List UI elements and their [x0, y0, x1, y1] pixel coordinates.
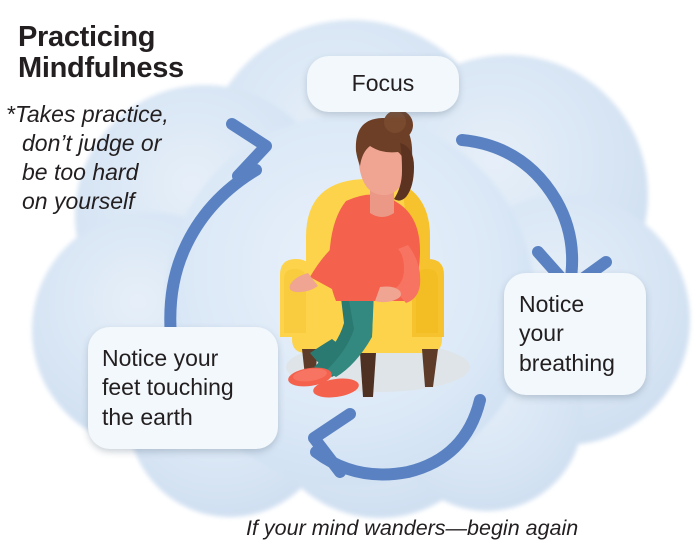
title-line-2: Mindfulness	[18, 53, 268, 84]
note-line-2: don’t judge or	[6, 129, 266, 158]
note-line-3: be too hard	[6, 158, 266, 187]
cycle-step-breathing-label: Noticeyourbreathing	[519, 290, 646, 378]
infographic-canvas: Practicing Mindfulness *Takes practice, …	[0, 0, 700, 559]
cycle-step-feet[interactable]: Notice yourfeet touchingthe earth	[88, 327, 278, 449]
cycle-step-focus-label: Focus	[307, 69, 459, 98]
cycle-step-breathing[interactable]: Noticeyourbreathing	[504, 273, 646, 395]
illustration-woman-meditating	[250, 105, 500, 405]
cycle-step-feet-label: Notice yourfeet touchingthe earth	[102, 344, 278, 432]
title-line-1: Practicing	[18, 22, 268, 53]
note-line-4: on yourself	[6, 187, 266, 216]
arrow-bottom-left	[314, 400, 480, 475]
page-title: Practicing Mindfulness	[18, 22, 268, 83]
hair-bun-highlight	[384, 111, 406, 133]
practice-note: *Takes practice, don’t judge or be too h…	[6, 100, 266, 216]
footer-caption: If your mind wanders—begin again	[246, 516, 578, 541]
cycle-step-focus[interactable]: Focus	[307, 56, 459, 112]
note-line-1: *Takes practice,	[6, 100, 266, 129]
